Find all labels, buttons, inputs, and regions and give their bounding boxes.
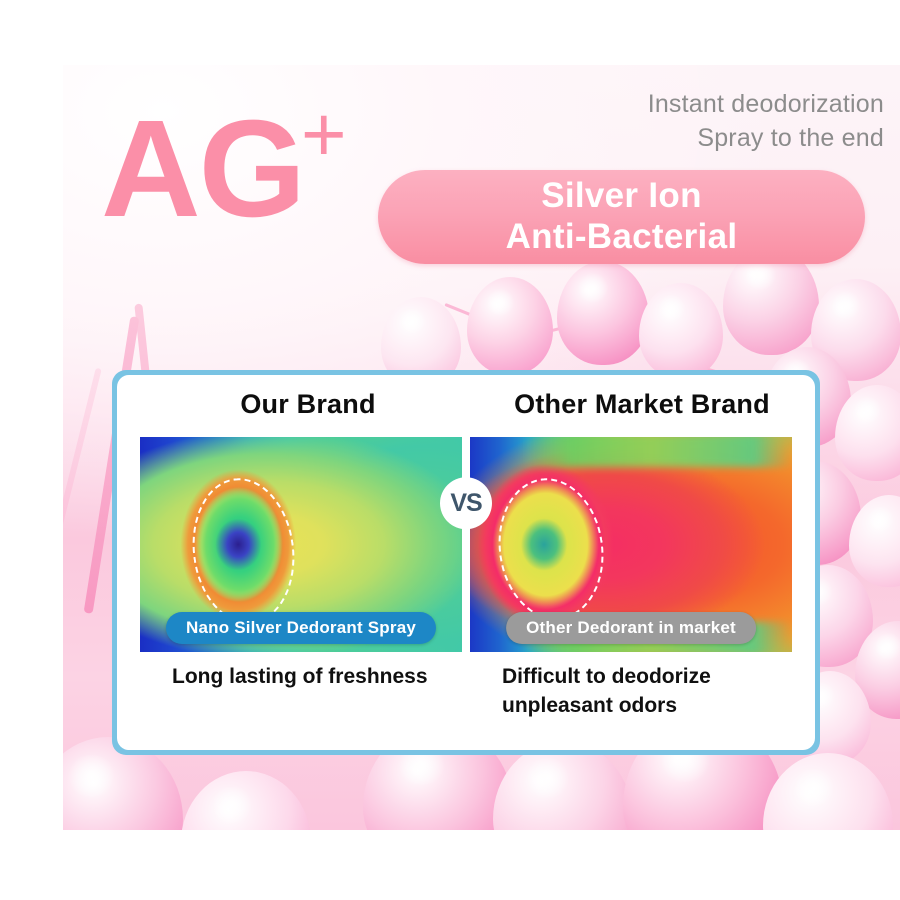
balloon-shape-icon: [639, 283, 723, 379]
badge-line-2: Anti-Bacterial: [506, 217, 738, 258]
tagline: Instant deodorization Spray to the end: [648, 88, 884, 155]
caption-other-brand-line-2: unpleasant odors: [502, 692, 792, 721]
caption-other-brand: Difficult to deodorize unpleasant odors: [462, 663, 792, 721]
poster-canvas: AG + Instant deodorization Spray to the …: [63, 65, 900, 830]
caption-other-brand-line-1: Difficult to deodorize: [502, 663, 792, 692]
thermal-panels: Nano Silver Dedorant Spray Other Dedoran…: [140, 437, 792, 652]
tagline-line-2: Spray to the end: [648, 122, 884, 156]
silver-ion-badge-text: Silver Ion Anti-Bacterial: [506, 176, 738, 257]
caption-our-brand: Long lasting of freshness: [140, 663, 462, 721]
vs-badge: VS: [440, 477, 492, 529]
thermal-panel-other-brand: Other Dedorant in market: [470, 437, 792, 652]
heading-our-brand: Our Brand: [117, 389, 475, 420]
brand-logo-text: AG: [101, 100, 304, 238]
comparison-card-frame: Our Brand Other Market Brand Nano Silver…: [112, 370, 820, 755]
balloon-shape-icon: [467, 277, 553, 375]
comparison-captions: Long lasting of freshness Difficult to d…: [140, 663, 792, 721]
balloon-shape-icon: [557, 261, 649, 365]
panel-label-other-brand: Other Dedorant in market: [506, 612, 756, 644]
comparison-headings: Our Brand Other Market Brand: [117, 389, 815, 420]
silver-ion-badge: Silver Ion Anti-Bacterial: [378, 170, 865, 264]
comparison-card: Our Brand Other Market Brand Nano Silver…: [117, 375, 815, 750]
tagline-line-1: Instant deodorization: [648, 88, 884, 122]
heading-other-brand: Other Market Brand: [475, 389, 815, 420]
brand-logo-plus-icon: +: [301, 95, 347, 173]
poster-root: AG + Instant deodorization Spray to the …: [0, 0, 900, 900]
thermal-panel-our-brand: Nano Silver Dedorant Spray: [140, 437, 462, 652]
badge-line-1: Silver Ion: [506, 176, 738, 217]
panel-label-our-brand: Nano Silver Dedorant Spray: [166, 612, 436, 644]
thermal-crest-top: [522, 437, 792, 467]
